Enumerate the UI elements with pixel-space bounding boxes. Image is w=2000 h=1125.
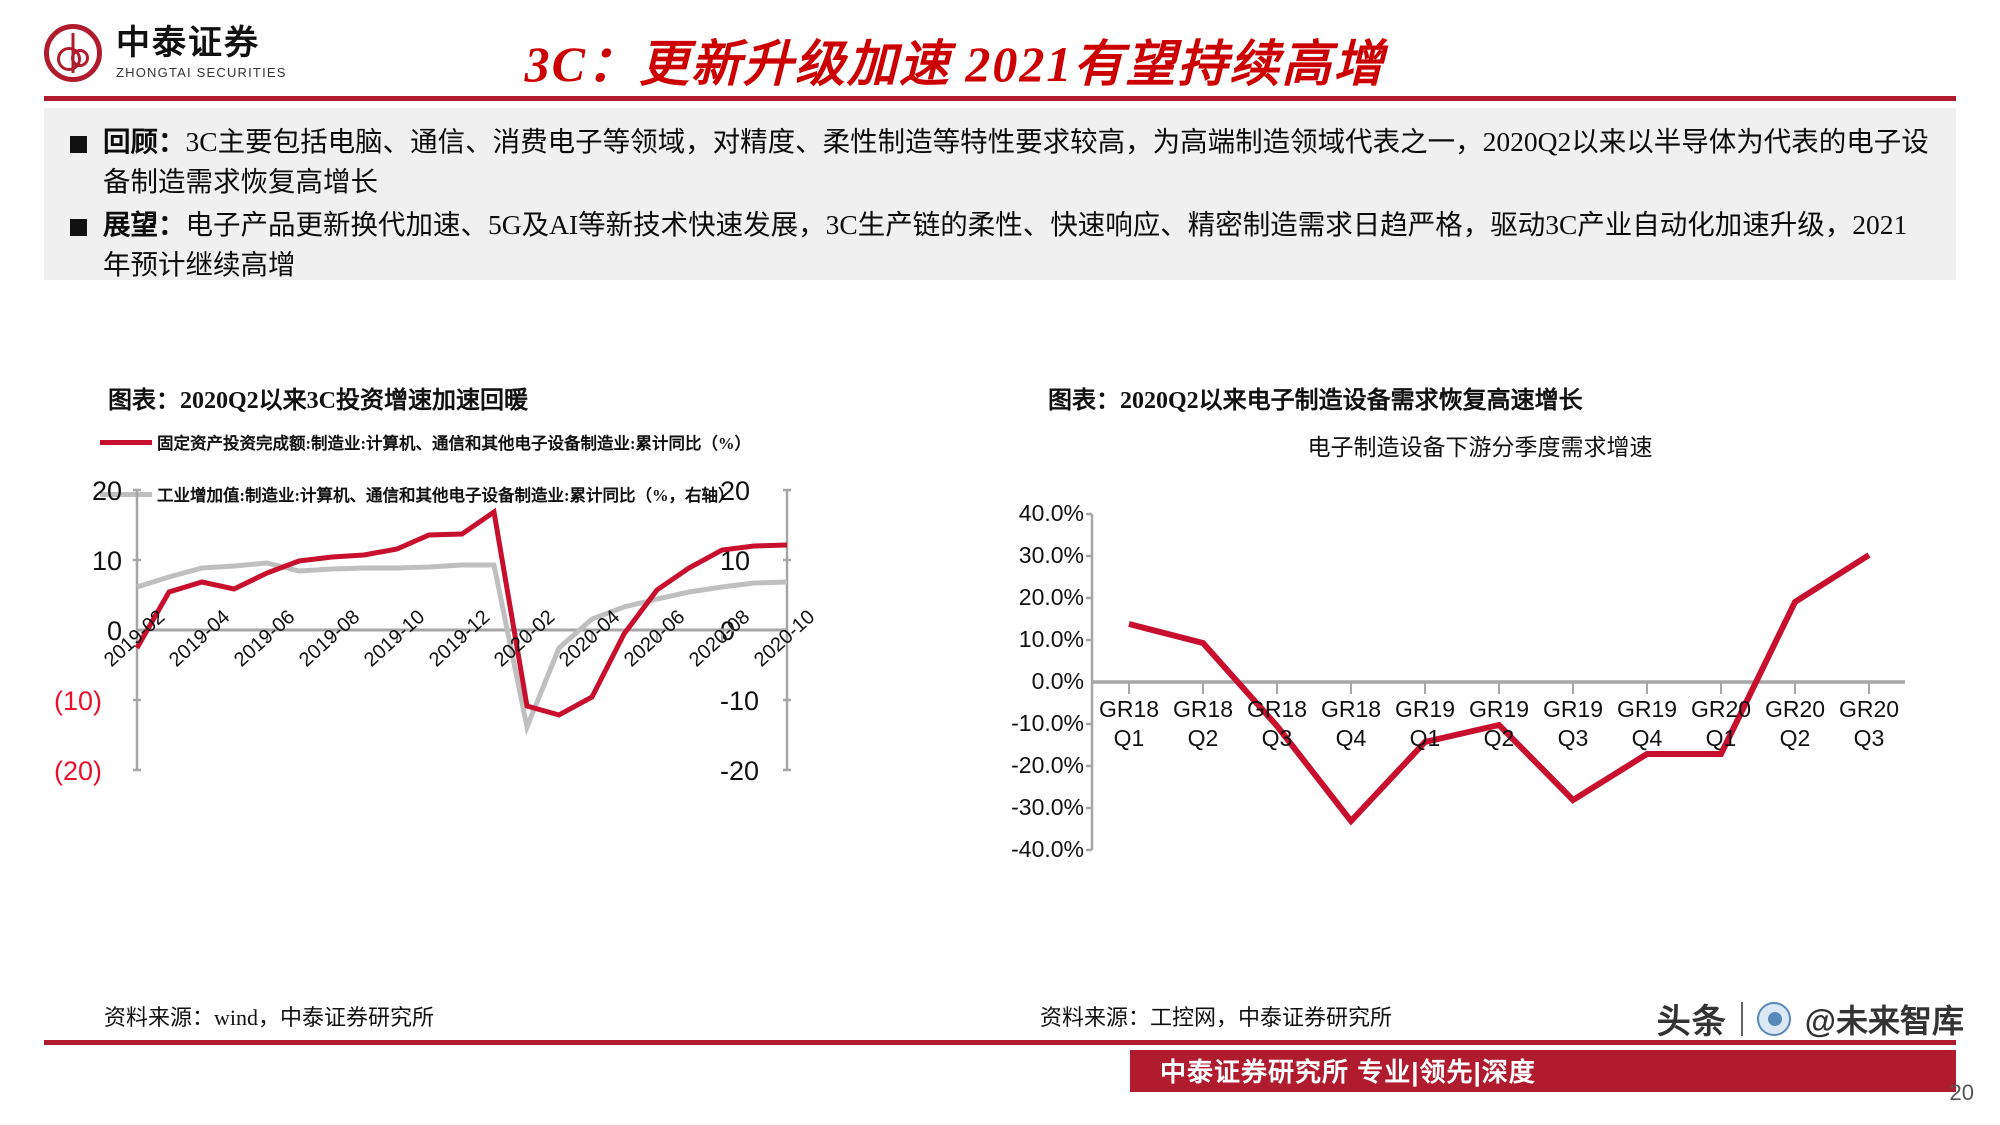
square-bullet-icon: [70, 219, 87, 236]
zhongtai-logo-icon: [44, 24, 102, 82]
left-chart-source: 资料来源：wind，中泰证券研究所: [104, 1000, 434, 1032]
page-title: 3C：更新升级加速 2021有望持续高增: [330, 24, 1580, 96]
summary-bullet-outlook-text: 展望：电子产品更新换代加速、5G及AI等新技术快速发展，3C生产链的柔性、快速响…: [103, 205, 1930, 284]
summary-panel: 回顾：3C主要包括电脑、通信、消费电子等领域，对精度、柔性制造等特性要求较高，为…: [44, 108, 1956, 280]
right-chart-source: 资料来源：工控网，中泰证券研究所: [1040, 1000, 1392, 1032]
left-figure-caption: 图表：2020Q2以来3C投资增速加速回暖: [108, 380, 528, 415]
right-chart: 电子制造设备下游分季度需求增速 40.0% 30.0% 20.0% 10.0% …: [1000, 430, 1960, 1050]
watermark: 头条 @未来智库: [1657, 994, 1964, 1043]
brand-logo-text: 中泰证券 ZHONGTAI SECURITIES: [116, 26, 287, 80]
square-bullet-icon: [70, 136, 87, 153]
brand-logo: 中泰证券 ZHONGTAI SECURITIES: [44, 22, 324, 84]
right-xcat-10-line2: Q3: [1824, 724, 1914, 753]
watermark-avatar-icon: [1757, 1002, 1791, 1036]
right-xcat-10-line1: GR20: [1824, 695, 1914, 724]
page-number: 20: [1950, 1080, 1974, 1106]
watermark-handle: @未来智库: [1805, 996, 1964, 1042]
watermark-divider: [1741, 1002, 1743, 1036]
series-line-investment: [137, 512, 787, 715]
summary-bullet-review-body: 3C主要包括电脑、通信、消费电子等领域，对精度、柔性制造等特性要求较高，为高端制…: [103, 126, 1929, 197]
brand-name-en: ZHONGTAI SECURITIES: [116, 65, 287, 80]
header-divider: [44, 96, 1956, 101]
summary-bullet-outlook-body: 电子产品更新换代加速、5G及AI等新技术快速发展，3C生产链的柔性、快速响应、精…: [103, 209, 1907, 280]
right-xcat-10: GR20 Q3: [1824, 695, 1914, 753]
summary-bullet-review: 回顾：3C主要包括电脑、通信、消费电子等领域，对精度、柔性制造等特性要求较高，为…: [70, 122, 1930, 201]
left-chart: 固定资产投资完成额:制造业:计算机、通信和其他电子设备制造业:累计同比（%） 工…: [60, 430, 960, 1050]
footer-bar-text: 中泰证券研究所 专业|领先|深度: [1160, 1052, 1536, 1089]
right-figure-caption: 图表：2020Q2以来电子制造设备需求恢复高速增长: [1048, 380, 1583, 415]
right-chart-plot: [1000, 430, 1960, 900]
brand-name-cn: 中泰证券: [116, 26, 287, 62]
watermark-logo-text: 头条: [1657, 994, 1727, 1043]
summary-bullet-outlook-label: 展望：: [103, 209, 186, 240]
summary-bullet-review-label: 回顾：: [103, 126, 186, 157]
summary-bullet-review-text: 回顾：3C主要包括电脑、通信、消费电子等领域，对精度、柔性制造等特性要求较高，为…: [103, 122, 1930, 201]
summary-bullet-outlook: 展望：电子产品更新换代加速、5G及AI等新技术快速发展，3C生产链的柔性、快速响…: [70, 205, 1930, 284]
